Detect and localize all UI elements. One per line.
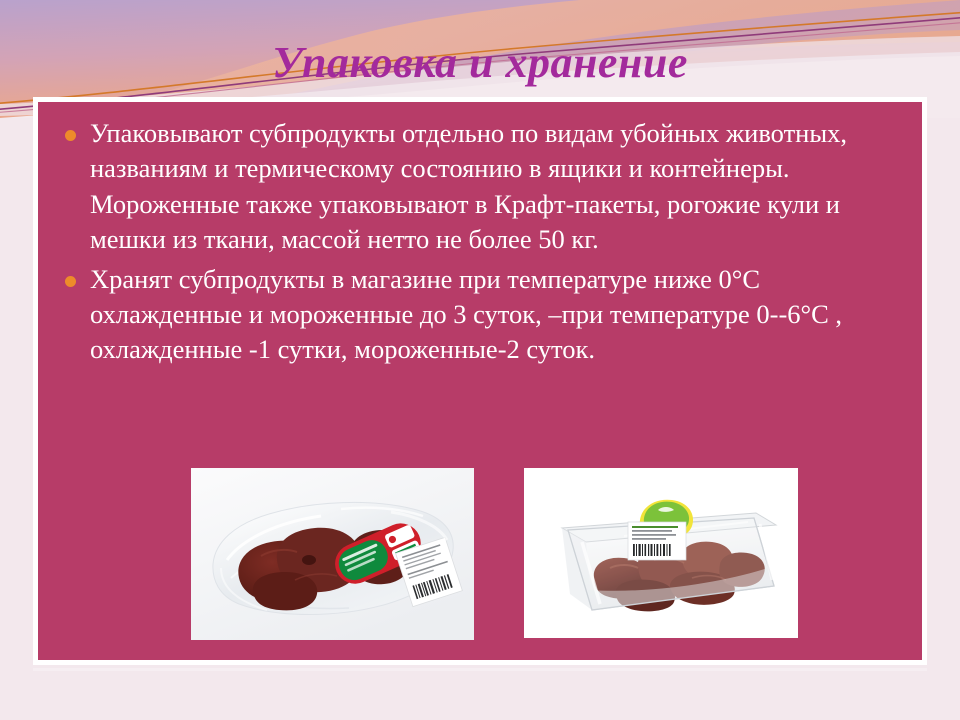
product-photo-plastic-tray [524,468,798,638]
page-title: Упаковка и хранение [0,40,960,86]
list-item: Упаковывают субпродукты отдельно по вида… [56,116,900,258]
content-panel: Упаковывают субпродукты отдельно по вида… [38,102,922,660]
content-frame: Упаковывают субпродукты отдельно по вида… [33,97,927,665]
product-photo-vacuum-pack [191,468,474,640]
images-row [38,468,922,640]
slide-bottom-rule [33,668,927,671]
bullet-dot-icon [65,130,76,141]
slide: Упаковка и хранение Упаковывают субпроду… [0,0,960,720]
list-item-text: Хранят субпродукты в магазине при темпер… [90,264,842,365]
bullet-list: Упаковывают субпродукты отдельно по вида… [38,102,922,368]
bullet-dot-icon [65,276,76,287]
list-item-text: Упаковывают субпродукты отдельно по вида… [90,118,847,254]
vacuum-pack-illustration [191,468,474,640]
plastic-tray-illustration [524,468,798,638]
list-item: Хранят субпродукты в магазине при темпер… [56,262,900,368]
